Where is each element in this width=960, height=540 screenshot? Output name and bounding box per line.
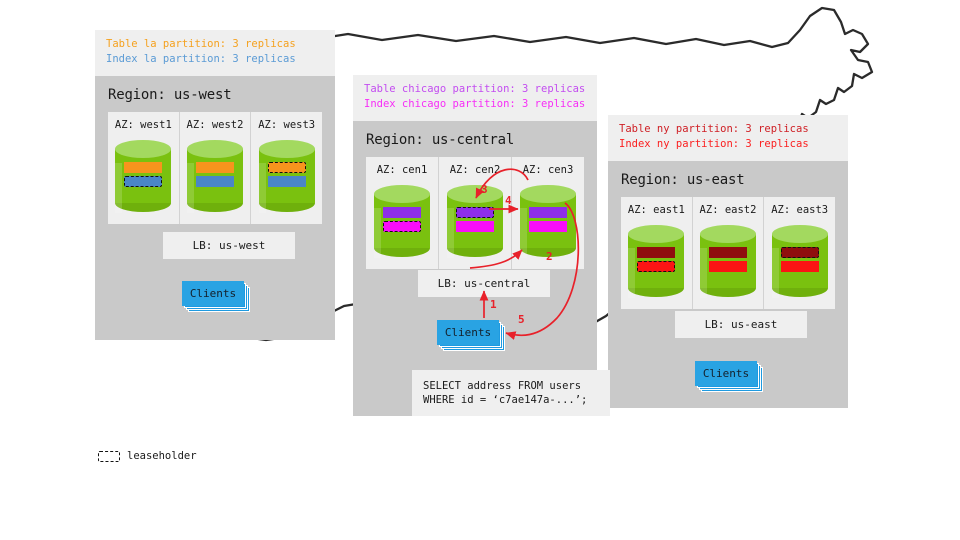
cylinder-highlight [259,163,266,213]
cylinder-highlight [374,208,381,258]
az-label-cen3: AZ: cen3 [512,164,584,176]
region-head-us-central: Table chicago partition: 3 replicas Inde… [353,75,597,121]
table-replica-block-cen3 [529,207,567,218]
clients-us-east[interactable]: Clients [695,361,757,386]
clients-us-west[interactable]: Clients [182,281,244,306]
load-balancer-us-central[interactable]: LB: us-central [418,270,550,297]
clients-label-us-central: Clients [437,320,499,345]
az-label-east3: AZ: east3 [764,204,835,216]
cylinder-highlight [520,208,527,258]
az-strip-us-west: AZ: west1 AZ: west2 [108,112,322,224]
table-replica-block-cen1 [383,207,421,218]
index-replica-block-cen2 [456,221,494,232]
table-replicas-label-us-central: Table chicago partition: 3 replicas [364,82,587,97]
node-cylinder-cen2[interactable] [447,185,503,257]
az-label-east1: AZ: east1 [621,204,692,216]
az-card-east1[interactable]: AZ: east1 [621,197,692,309]
cylinder-highlight [187,163,194,213]
diagram-canvas: Table la partition: 3 replicas Index la … [0,0,960,540]
node-cylinder-east2[interactable] [700,225,756,297]
node-cylinder-west1[interactable] [115,140,171,212]
cylinder-top [447,185,503,203]
az-card-west1[interactable]: AZ: west1 [108,112,179,224]
cylinder-top [374,185,430,203]
cylinder-highlight [772,248,779,298]
az-label-east2: AZ: east2 [693,204,764,216]
arrow-number-5: 5 [518,313,525,326]
table-replica-block-east2 [709,247,747,258]
table-replicas-label-us-west: Table la partition: 3 replicas [106,37,325,52]
cylinder-top [187,140,243,158]
az-label-west3: AZ: west3 [251,119,322,131]
az-card-cen1[interactable]: AZ: cen1 [366,157,438,269]
cylinder-top [700,225,756,243]
az-card-west2[interactable]: AZ: west2 [179,112,251,224]
index-replica-block-west3 [268,176,306,187]
az-card-cen2[interactable]: AZ: cen2 [438,157,511,269]
node-cylinder-east3[interactable] [772,225,828,297]
index-replica-block-east1 [637,261,675,272]
legend-label-leaseholder: leaseholder [127,450,197,462]
region-panel-us-central: Table chicago partition: 3 replicas Inde… [353,75,597,416]
node-cylinder-west2[interactable] [187,140,243,212]
region-head-us-east: Table ny partition: 3 replicas Index ny … [608,115,848,161]
sql-query-note: SELECT address FROM users WHERE id = ‘c7… [412,370,610,416]
cylinder-top [772,225,828,243]
node-cylinder-east1[interactable] [628,225,684,297]
arrow-number-4: 4 [505,194,512,207]
cylinder-highlight [447,208,454,258]
cylinder-top [520,185,576,203]
legend: leaseholder [98,450,197,462]
index-replicas-label-us-central: Index chicago partition: 3 replicas [364,97,587,112]
node-cylinder-west3[interactable] [259,140,315,212]
table-replicas-label-us-east: Table ny partition: 3 replicas [619,122,838,137]
cylinder-highlight [628,248,635,298]
az-label-cen1: AZ: cen1 [366,164,438,176]
az-card-east2[interactable]: AZ: east2 [692,197,764,309]
az-label-west2: AZ: west2 [180,119,251,131]
table-replica-block-east1 [637,247,675,258]
region-head-us-west: Table la partition: 3 replicas Index la … [95,30,335,76]
az-label-west1: AZ: west1 [108,119,179,131]
table-replica-block-west3 [268,162,306,173]
az-card-west3[interactable]: AZ: west3 [250,112,322,224]
leaseholder-dashed-rect-icon [98,451,120,462]
load-balancer-us-west[interactable]: LB: us-west [163,232,295,259]
cylinder-top [628,225,684,243]
node-cylinder-cen1[interactable] [374,185,430,257]
arrow-number-1: 1 [490,298,497,311]
index-replicas-label-us-west: Index la partition: 3 replicas [106,52,325,67]
region-title-us-west: Region: us-west [95,76,335,112]
index-replica-block-east3 [781,261,819,272]
arrow-number-2: 2 [546,250,553,263]
arrow-number-3: 3 [481,183,488,196]
index-replica-block-cen1 [383,221,421,232]
region-title-us-central: Region: us-central [353,121,597,157]
cylinder-highlight [115,163,122,213]
table-replica-block-west1 [124,162,162,173]
index-replicas-label-us-east: Index ny partition: 3 replicas [619,137,838,152]
table-replica-block-east3 [781,247,819,258]
load-balancer-us-east[interactable]: LB: us-east [675,311,807,338]
az-strip-us-east: AZ: east1 AZ: east2 [621,197,835,309]
cylinder-top [259,140,315,158]
table-replica-block-west2 [196,162,234,173]
node-cylinder-cen3[interactable] [520,185,576,257]
index-replica-block-east2 [709,261,747,272]
cylinder-highlight [700,248,707,298]
az-label-cen2: AZ: cen2 [439,164,511,176]
clients-us-central[interactable]: Clients [437,320,499,345]
table-replica-block-cen2 [456,207,494,218]
index-replica-block-west2 [196,176,234,187]
region-title-us-east: Region: us-east [608,161,848,197]
clients-label-us-west: Clients [182,281,244,306]
index-replica-block-west1 [124,176,162,187]
az-card-east3[interactable]: AZ: east3 [763,197,835,309]
cylinder-top [115,140,171,158]
index-replica-block-cen3 [529,221,567,232]
clients-label-us-east: Clients [695,361,757,386]
